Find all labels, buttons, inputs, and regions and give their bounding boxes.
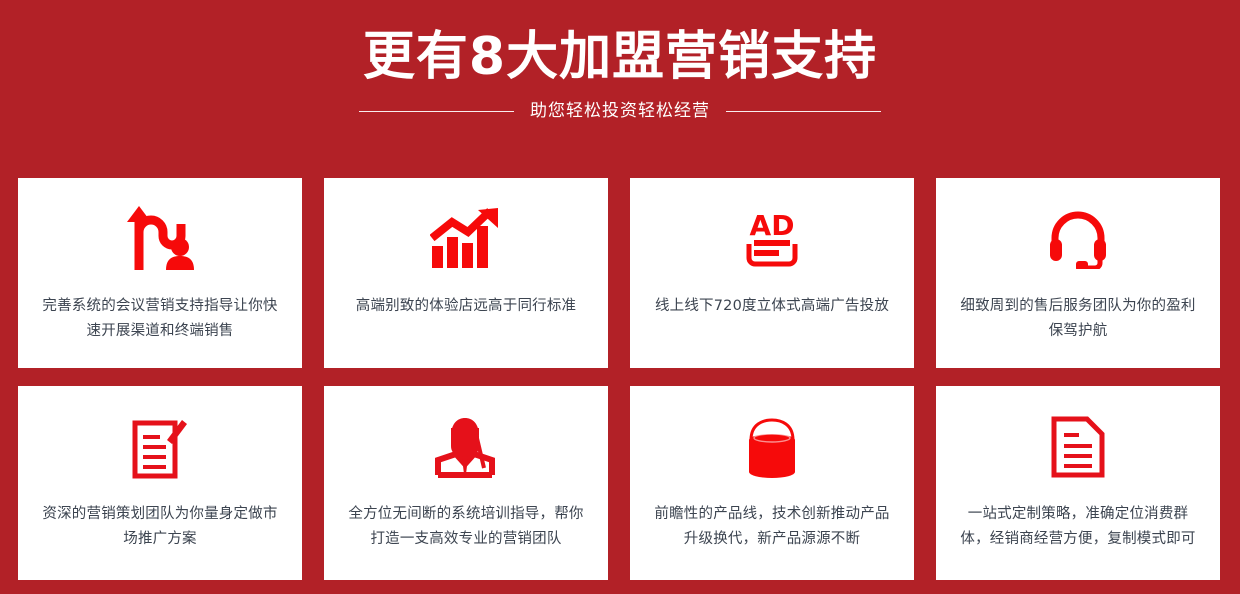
- support-card-grid: 完善系统的会议营销支持指导让你快速开展渠道和终端销售 高端别致的体验店远高于同行…: [18, 178, 1222, 580]
- support-card-text: 完善系统的会议营销支持指导让你快速开展渠道和终端销售: [36, 294, 284, 344]
- support-card[interactable]: AD 线上线下720度立体式高端广告投放: [630, 178, 914, 368]
- growth-chart-icon: [430, 200, 502, 278]
- support-card-text: 资深的营销策划团队为你量身定做市场推广方案: [36, 502, 284, 552]
- headset-icon: [1048, 200, 1108, 278]
- subtitle-row: 助您轻松投资轻松经营: [0, 100, 1240, 122]
- support-card[interactable]: 高端别致的体验店远高于同行标准: [324, 178, 608, 368]
- support-card-text: 线上线下720度立体式高端广告投放: [655, 294, 889, 319]
- support-card-text: 一站式定制策略，准确定位消费群体，经销商经营方便，复制模式即可: [954, 502, 1202, 552]
- document-file-icon: [1051, 408, 1105, 486]
- ad-banner-icon: AD: [741, 200, 803, 278]
- subtitle-rule-right: [726, 111, 881, 112]
- subtitle-rule-left: [359, 111, 514, 112]
- support-card[interactable]: 全方位无间断的系统培训指导，帮你打造一支高效专业的营销团队: [324, 386, 608, 580]
- promo-banner: 更有8大加盟营销支持 助您轻松投资轻松经营 完善系统的会议营销支持指导让你快速开…: [0, 0, 1240, 594]
- support-card[interactable]: 细致周到的售后服务团队为你的盈利保驾护航: [936, 178, 1220, 368]
- paint-bucket-icon: [742, 408, 802, 486]
- support-card[interactable]: 完善系统的会议营销支持指导让你快速开展渠道和终端销售: [18, 178, 302, 368]
- support-card-text: 细致周到的售后服务团队为你的盈利保驾护航: [954, 294, 1202, 344]
- trainer-person-icon: [434, 408, 498, 486]
- document-pen-icon: [132, 408, 188, 486]
- support-card[interactable]: 资深的营销策划团队为你量身定做市场推广方案: [18, 386, 302, 580]
- support-card[interactable]: 前瞻性的产品线，技术创新推动产品升级换代，新产品源源不断: [630, 386, 914, 580]
- arrow-person-icon: [125, 200, 195, 278]
- support-card-text: 高端别致的体验店远高于同行标准: [356, 294, 577, 319]
- page-subtitle: 助您轻松投资轻松经营: [530, 100, 710, 122]
- banner-header: 更有8大加盟营销支持 助您轻松投资轻松经营: [0, 0, 1240, 122]
- support-card-text: 前瞻性的产品线，技术创新推动产品升级换代，新产品源源不断: [648, 502, 896, 552]
- page-title: 更有8大加盟营销支持: [0, 26, 1240, 88]
- support-card[interactable]: 一站式定制策略，准确定位消费群体，经销商经营方便，复制模式即可: [936, 386, 1220, 580]
- svg-text:AD: AD: [750, 209, 795, 242]
- support-card-text: 全方位无间断的系统培训指导，帮你打造一支高效专业的营销团队: [342, 502, 590, 552]
